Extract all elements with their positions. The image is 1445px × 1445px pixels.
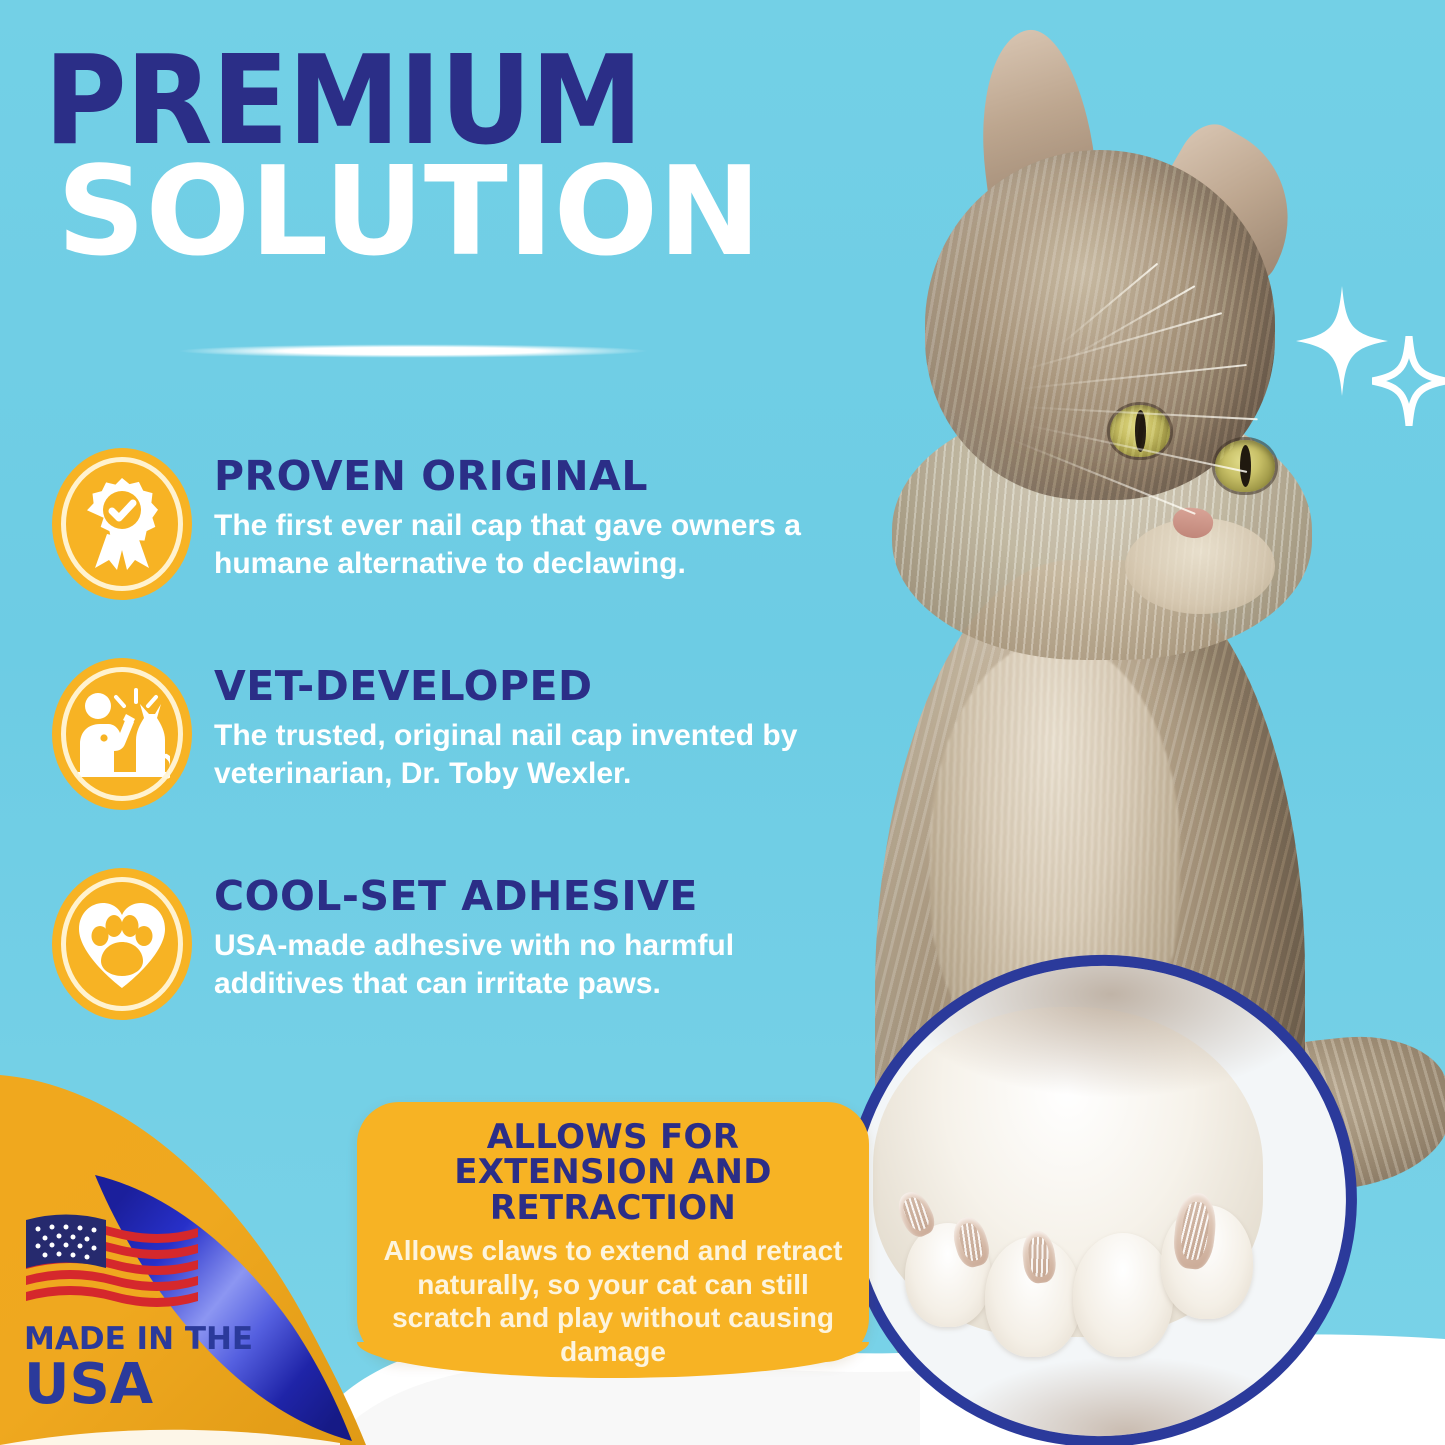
headline-line-solution: SOLUTION bbox=[44, 158, 774, 269]
cat-whiskers bbox=[850, 330, 1280, 560]
feature-item: VET-DEVELOPED The trusted, original nail… bbox=[52, 658, 822, 810]
headline: PREMIUM SOLUTION bbox=[44, 48, 814, 269]
paw-fur-shading bbox=[845, 955, 1357, 1445]
heart-paw-icon bbox=[52, 868, 192, 1020]
feature-description: The trusted, original nail cap invented … bbox=[214, 717, 822, 793]
callout-description: Allows claws to extend and retract natur… bbox=[381, 1234, 845, 1368]
usa-flag-icon bbox=[24, 1212, 200, 1316]
sparkle-star-outline-icon bbox=[1372, 336, 1445, 426]
feature-title: VET-DEVELOPED bbox=[214, 666, 822, 707]
feature-description: USA-made adhesive with no harmful additi… bbox=[214, 927, 822, 1003]
feature-title: PROVEN ORIGINAL bbox=[214, 456, 822, 497]
callout-title: ALLOWS FOR EXTENSION AND RETRACTION bbox=[381, 1120, 845, 1226]
vet-highfive-cat-icon bbox=[52, 658, 192, 810]
award-ribbon-icon bbox=[52, 448, 192, 600]
feature-description: The first ever nail cap that gave owners… bbox=[214, 507, 822, 583]
product-feature-poster: PREMIUM SOLUTION PROVEN ORIGINAL The fir… bbox=[0, 0, 1445, 1445]
cat-paw-with-nail-caps-closeup bbox=[825, 934, 1378, 1445]
headline-underline-swoosh bbox=[178, 344, 648, 358]
feature-list: PROVEN ORIGINAL The first ever nail cap … bbox=[52, 448, 822, 1078]
feature-title: COOL-SET ADHESIVE bbox=[214, 876, 822, 917]
feature-item: PROVEN ORIGINAL The first ever nail cap … bbox=[52, 448, 822, 600]
made-in-usa-badge: MADE IN THE USA bbox=[24, 1212, 254, 1413]
feature-item: COOL-SET ADHESIVE USA-made adhesive with… bbox=[52, 868, 822, 1020]
extension-retraction-callout: ALLOWS FOR EXTENSION AND RETRACTION Allo… bbox=[357, 1102, 869, 1362]
usa-badge-line1: MADE IN THE bbox=[24, 1324, 254, 1355]
usa-badge-line2: USA bbox=[24, 1357, 254, 1413]
headline-line-premium: PREMIUM bbox=[44, 48, 829, 156]
